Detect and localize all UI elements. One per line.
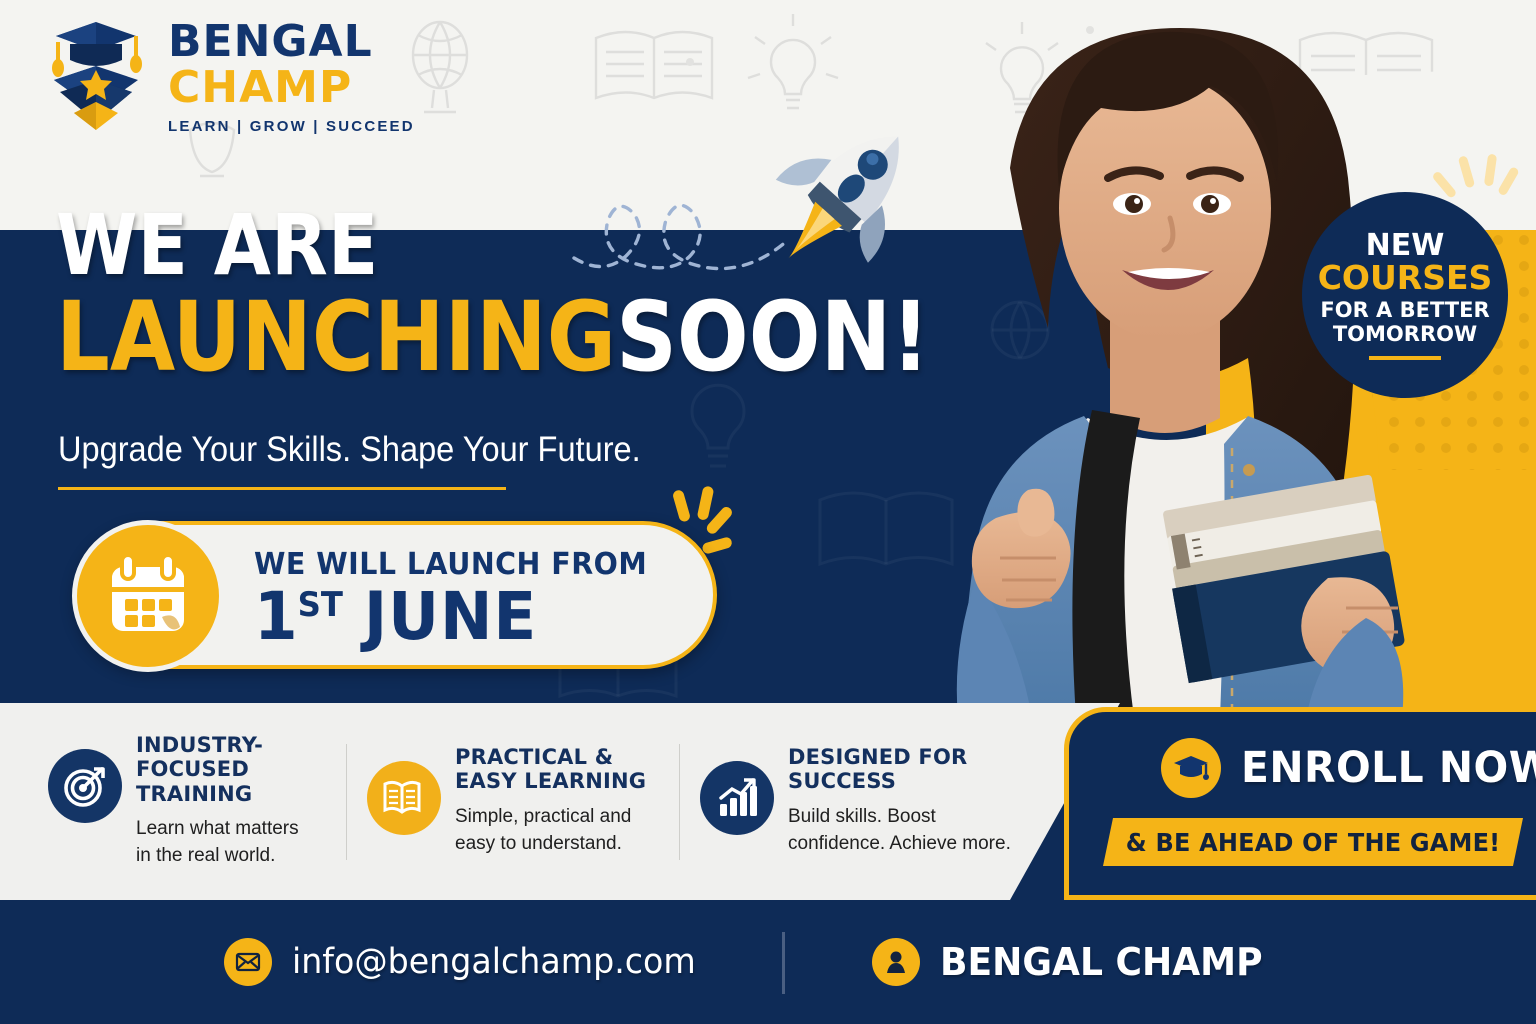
brand-logo[interactable]: BENGAL CHAMP LEARN | GROW | SUCCEED xyxy=(40,18,415,136)
launch-date-badge[interactable]: WE WILL LAUNCH FROM 1STJUNE xyxy=(74,521,717,669)
feature-divider xyxy=(346,744,347,860)
new-courses-badge[interactable]: NEW COURSES FOR A BETTER TOMORROW xyxy=(1302,192,1508,398)
feature-item: INDUSTRY-FOCUSED TRAINING Learn what mat… xyxy=(0,733,330,870)
badge-rule xyxy=(1369,356,1441,360)
feature-divider xyxy=(679,744,680,860)
launch-day-suffix: ST xyxy=(298,585,343,625)
promotional-banner: BENGAL CHAMP LEARN | GROW | SUCCEED xyxy=(0,0,1536,1024)
feature-title: INDUSTRY-FOCUSED TRAINING xyxy=(136,733,326,805)
footer-email[interactable]: info@bengalchamp.com xyxy=(224,938,717,986)
footer-email-text: info@bengalchamp.com xyxy=(292,942,696,982)
subtitle-rule xyxy=(58,487,506,490)
feature-item: DESIGNED FOR SUCCESS Build skills. Boost… xyxy=(696,745,1026,857)
feature-description: Learn what matters in the real world. xyxy=(136,815,326,870)
growth-bar-chart-icon xyxy=(700,761,774,835)
headline-line-1: WE ARE xyxy=(56,206,848,286)
badge-line-2: COURSES xyxy=(1318,261,1493,295)
enroll-title: ENROLL NOW xyxy=(1241,743,1536,793)
headline-launching: LAUNCHING xyxy=(56,281,616,393)
feature-description: Simple, practical and easy to understand… xyxy=(455,803,646,858)
open-book-icon xyxy=(367,761,441,835)
badge-line-3: FOR A BETTER TOMORROW xyxy=(1320,298,1489,346)
feature-title: PRACTICAL & EASY LEARNING xyxy=(455,745,646,793)
badge-line-1: NEW xyxy=(1366,230,1445,261)
launch-month: JUNE xyxy=(364,578,537,655)
feature-item: PRACTICAL & EASY LEARNING Simple, practi… xyxy=(363,745,663,857)
feature-description: Build skills. Boost confidence. Achieve … xyxy=(788,803,1011,858)
footer-brand[interactable]: BENGAL CHAMP xyxy=(872,938,1280,986)
enroll-heading: ENROLL NOW xyxy=(1161,738,1536,798)
graduation-cap-book-logo-icon xyxy=(40,18,152,136)
enroll-subtext-band: & BE AHEAD OF THE GAME! xyxy=(1103,818,1523,866)
launch-from-label: WE WILL LAUNCH FROM xyxy=(254,547,647,582)
graduation-cap-icon xyxy=(1161,738,1221,798)
hero-subtitle: Upgrade Your Skills. Shape Your Future. xyxy=(58,430,641,470)
footer-divider xyxy=(782,932,785,994)
enroll-panel[interactable]: ENROLL NOW & BE AHEAD OF THE GAME! xyxy=(1064,707,1536,900)
logo-line-1: BENGAL xyxy=(168,20,415,64)
calendar-icon xyxy=(106,553,190,639)
launch-day: 1 xyxy=(254,578,298,655)
footer-brand-text: BENGAL CHAMP xyxy=(940,940,1263,984)
target-arrow-icon xyxy=(48,749,122,823)
enroll-subtext: & BE AHEAD OF THE GAME! xyxy=(1126,828,1501,857)
hero-headline: WE ARE LAUNCHINGSOON! xyxy=(56,206,956,384)
headline-line-2: LAUNCHINGSOON! xyxy=(56,290,848,384)
launch-date-text: WE WILL LAUNCH FROM 1STJUNE xyxy=(254,547,668,650)
logo-tagline: LEARN | GROW | SUCCEED xyxy=(168,119,415,134)
feature-title: DESIGNED FOR SUCCESS xyxy=(788,745,1011,793)
logo-line-2: CHAMP xyxy=(168,66,415,110)
launch-date-value: 1STJUNE xyxy=(254,584,647,650)
features-row: INDUSTRY-FOCUSED TRAINING Learn what mat… xyxy=(0,703,1030,900)
calendar-badge-circle xyxy=(72,520,224,672)
envelope-icon xyxy=(224,938,272,986)
user-profile-icon xyxy=(872,938,920,986)
headline-soon: SOON! xyxy=(616,281,930,393)
